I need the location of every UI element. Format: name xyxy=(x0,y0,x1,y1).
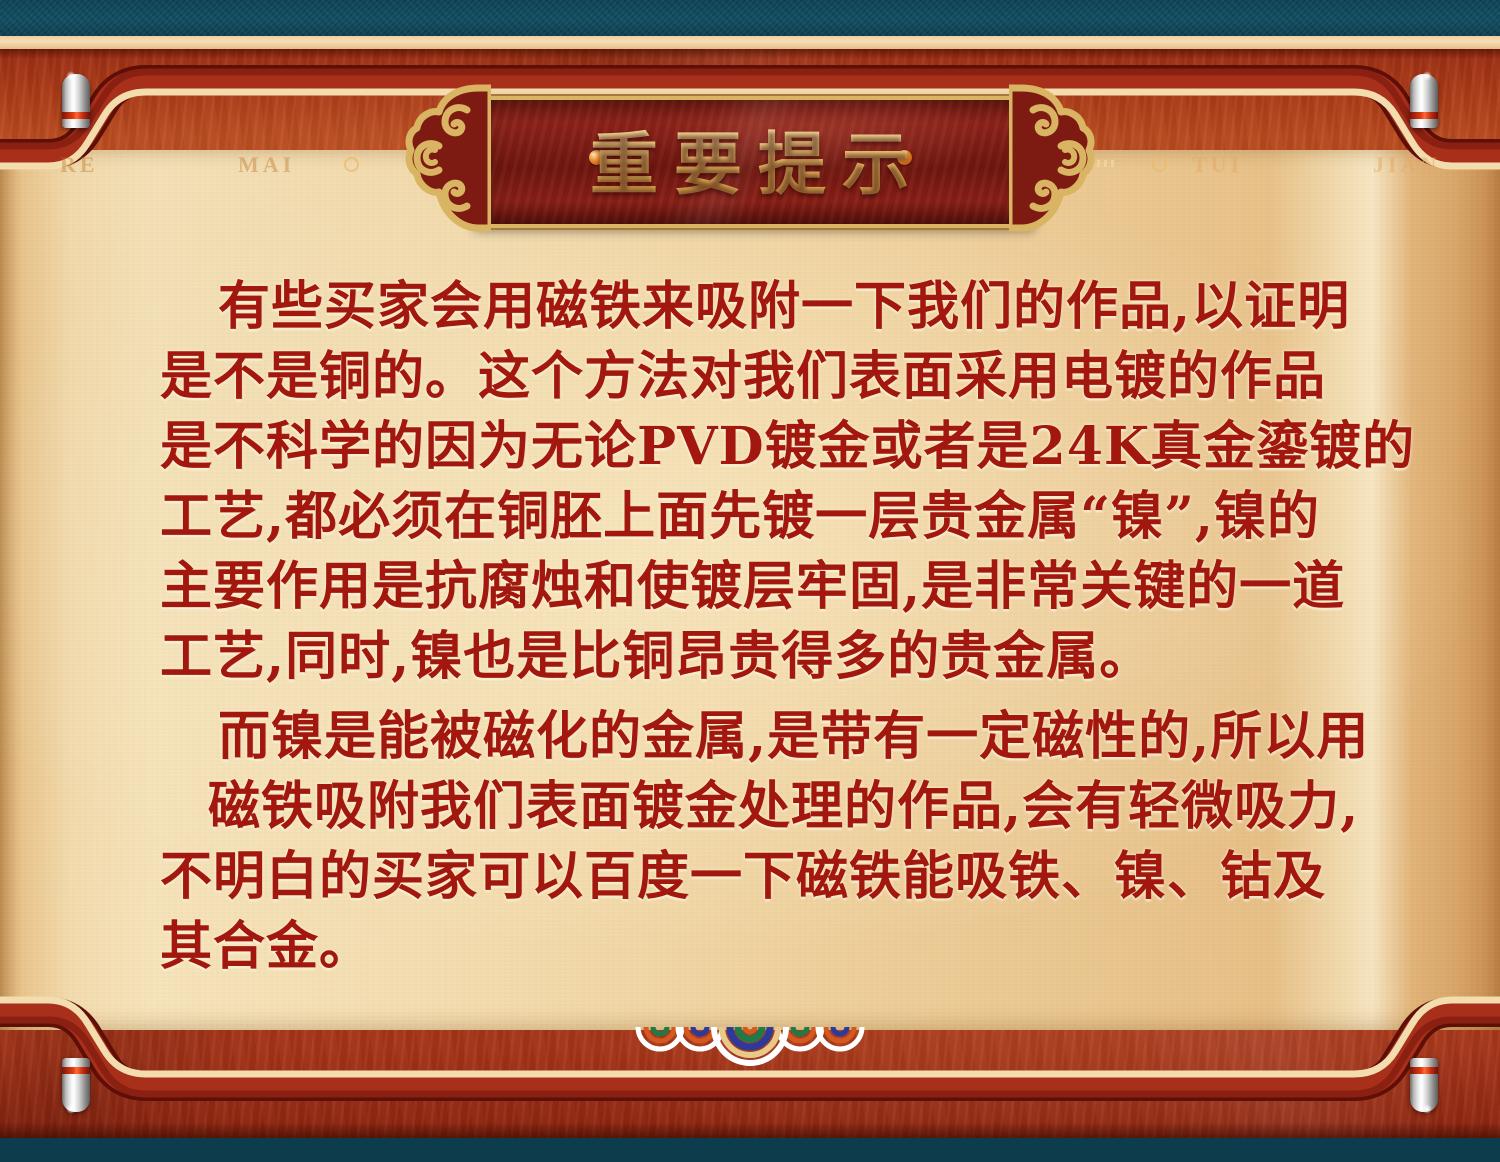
scroll-roller-knob-top-right xyxy=(1410,74,1438,128)
scroll-roller-knob-bottom-left xyxy=(62,1058,90,1112)
notice-poster: RE MAI TUI JIAN 重要提示 xyxy=(0,0,1500,1162)
body-line: 磁铁吸附我们表面镀金处理的作品,会有轻微吸力, xyxy=(160,772,1352,842)
body-line: 不明白的买家可以百度一下磁铁能吸铁、镍、钴及 xyxy=(160,842,1352,912)
body-line: 工艺,同时,镍也是比铜昂贵得多的贵金属。 xyxy=(160,622,1352,692)
top-cream-strip xyxy=(0,36,1500,49)
top-fabric-band xyxy=(0,0,1500,36)
body-line: 有些买家会用磁铁来吸附一下我们的作品,以证明 xyxy=(160,272,1352,342)
scroll-roller-knob-top-left xyxy=(62,74,90,128)
scroll-roller-knob-bottom-right xyxy=(1410,1058,1438,1112)
title-plaque: 重要提示 xyxy=(405,84,1095,232)
notice-body: 有些买家会用磁铁来吸附一下我们的作品,以证明 是不是铜的。这个方法对我们表面采用… xyxy=(160,272,1352,982)
body-line: 其合金。 xyxy=(160,912,1352,982)
page-title: 重要提示 xyxy=(473,96,1027,220)
body-line: 工艺,都必须在铜胚上面先镀一层贵金属“镍”,镍的 xyxy=(160,482,1352,552)
body-line: 主要作用是抗腐烛和使镀层牢固,是非常关键的一道 xyxy=(160,552,1352,622)
wood-bottom-shadow xyxy=(0,1122,1500,1138)
body-line: 是不科学的因为无论PVD镀金或者是24K真金鎏镀的 xyxy=(160,412,1352,482)
ruyi-cloud-ornament-bottom xyxy=(620,1025,880,1087)
body-line: 而镍是能被磁化的金属,是带有一定磁性的,所以用 xyxy=(160,702,1352,772)
wood-top-shadow xyxy=(0,49,1500,59)
body-line: 是不是铜的。这个方法对我们表面采用电镀的作品 xyxy=(160,342,1352,412)
